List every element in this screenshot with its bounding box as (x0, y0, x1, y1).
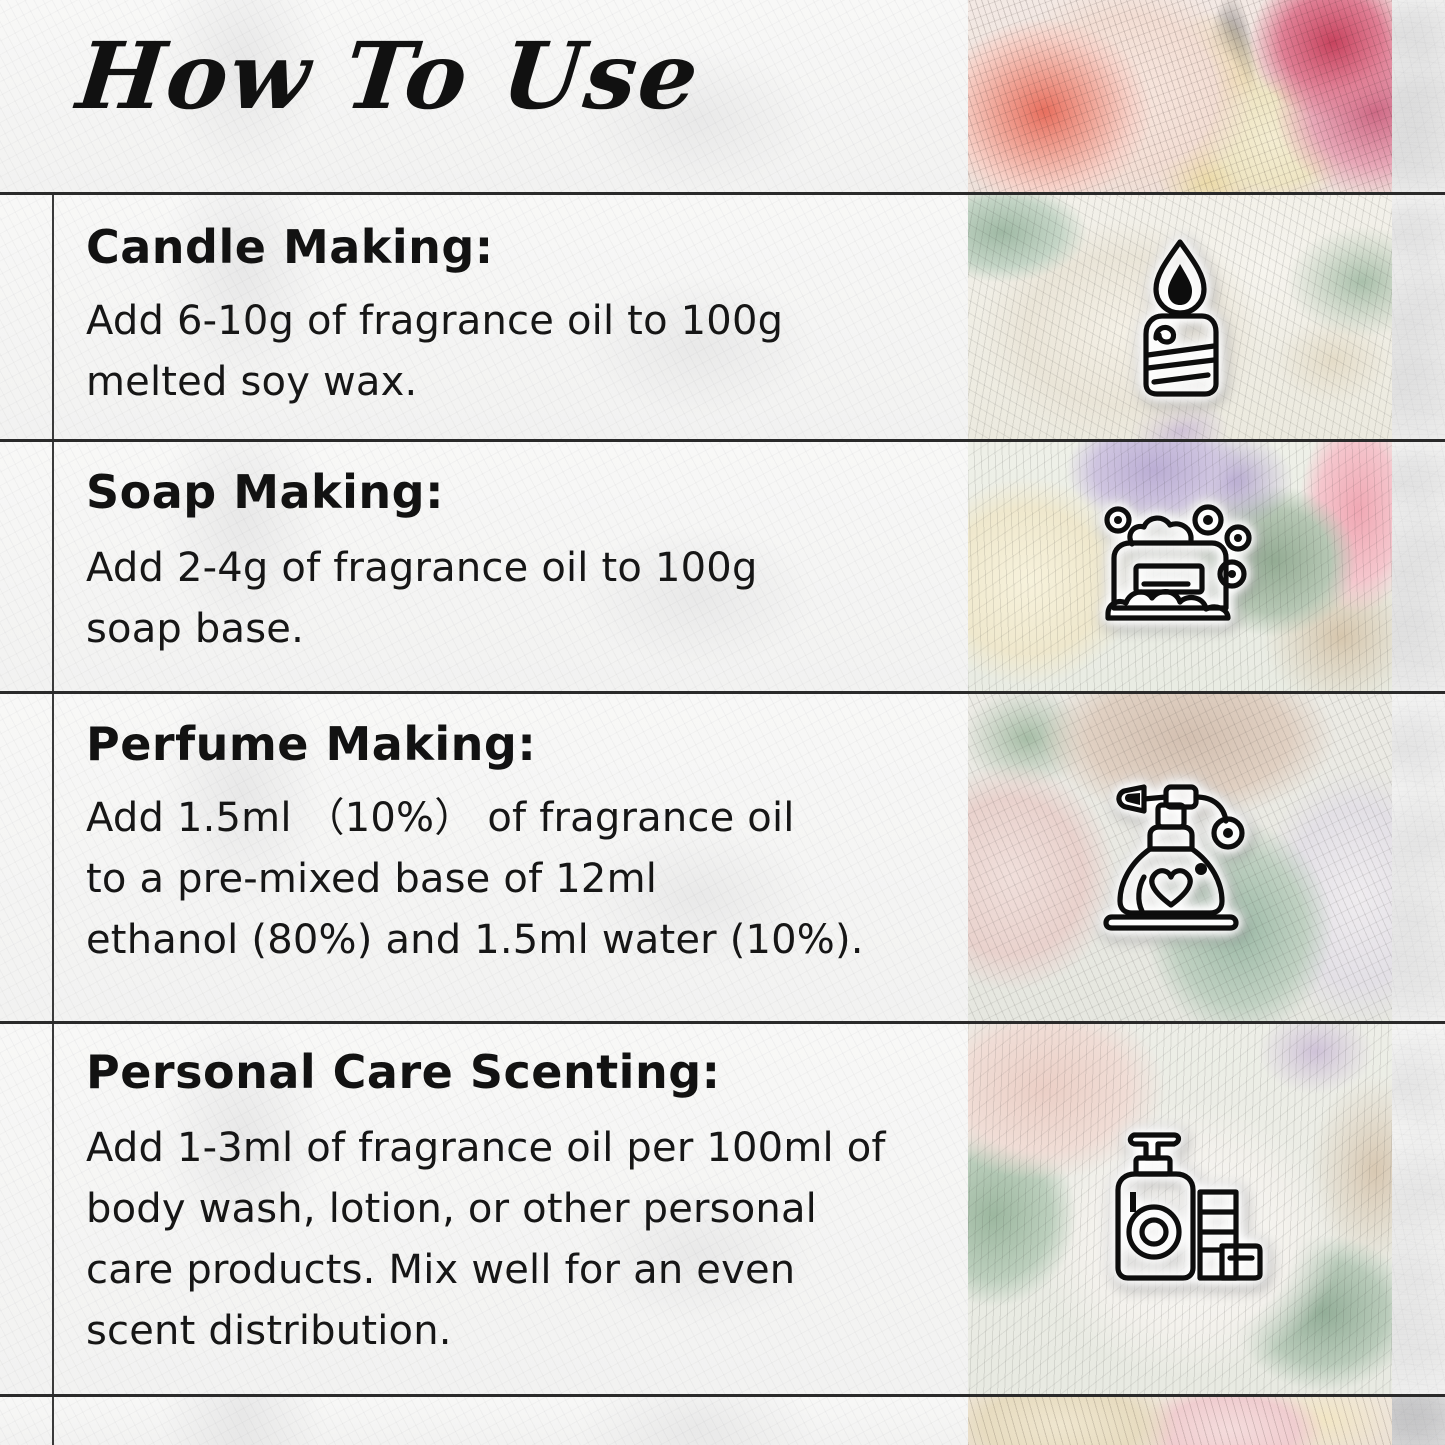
section-heading-soap: Soap Making: (86, 468, 938, 516)
section-image-perfume (968, 692, 1392, 1022)
section-image-care (968, 1022, 1392, 1395)
left-margin-rule (52, 193, 54, 440)
section-body-candle: Add 6-10g of fragrance oil to 100g melte… (86, 291, 938, 413)
section-soap-making: Soap Making: Add 2-4g of fragrance oil t… (0, 440, 968, 692)
perfume-bottle-icon (968, 692, 1392, 1022)
divider-care-next (0, 1394, 1445, 1397)
section-body-line: body wash, lotion, or other personal (86, 1179, 938, 1240)
section-body-line: Add 6-10g of fragrance oil to 100g (86, 291, 938, 352)
next-section-texture (0, 1395, 968, 1445)
section-candle-making: Candle Making: Add 6-10g of fragrance oi… (0, 193, 968, 440)
left-margin-rule (52, 1395, 54, 1445)
right-margin-strip-perfume (1392, 692, 1445, 1022)
how-to-use-infographic: How To Use Candle Making: Add 6-10g of f… (0, 0, 1445, 1445)
soap-bar-icon (968, 440, 1392, 692)
section-body-soap: Add 2-4g of fragrance oil to 100g soap b… (86, 538, 938, 660)
divider-header-candle (0, 192, 1445, 195)
section-image-soap (968, 440, 1392, 692)
book-and-roses-illustration (968, 1395, 1392, 1445)
left-margin-rule (52, 440, 54, 692)
section-body-line: Add 2-4g of fragrance oil to 100g (86, 538, 938, 599)
page-title: How To Use (72, 22, 705, 130)
right-margin-strip-care (1392, 1022, 1445, 1395)
left-margin-rule (52, 1022, 54, 1395)
right-margin-strip-soap (1392, 440, 1445, 692)
divider-perfume-care (0, 1021, 1445, 1024)
section-body-line: soap base. (86, 599, 938, 660)
section-heading-candle: Candle Making: (86, 223, 938, 271)
roses-illustration (968, 0, 1392, 193)
section-personal-care-scenting: Personal Care Scenting: Add 1-3ml of fra… (0, 1022, 968, 1395)
next-section-image (968, 1395, 1392, 1445)
section-body-line: ethanol (80%) and 1.5ml water (10%). (86, 910, 938, 971)
section-heading-care: Personal Care Scenting: (86, 1048, 938, 1096)
right-margin-strip-candle (1392, 193, 1445, 440)
divider-candle-soap (0, 439, 1445, 442)
section-body-perfume: Add 1.5ml （10%） of fragrance oil to a pr… (86, 788, 938, 970)
section-body-line: Add 1-3ml of fragrance oil per 100ml of (86, 1118, 938, 1179)
lotion-bottle-icon (968, 1022, 1392, 1395)
right-margin-strip-bottom (1392, 1395, 1445, 1445)
section-body-line: care products. Mix well for an even (86, 1240, 938, 1301)
right-margin-strip-header (1392, 0, 1445, 193)
section-body-line: scent distribution. (86, 1301, 938, 1362)
section-heading-perfume: Perfume Making: (86, 720, 938, 768)
next-section-band (0, 1395, 968, 1445)
section-body-line: melted soy wax. (86, 352, 938, 413)
section-body-care: Add 1-3ml of fragrance oil per 100ml of … (86, 1118, 938, 1361)
header-image-roses (968, 0, 1392, 193)
left-margin-rule (52, 692, 54, 1022)
section-image-candle (968, 193, 1392, 440)
section-body-line: Add 1.5ml （10%） of fragrance oil (86, 788, 938, 849)
section-body-line: to a pre-mixed base of 12ml (86, 849, 938, 910)
section-perfume-making: Perfume Making: Add 1.5ml （10%） of fragr… (0, 692, 968, 1022)
header-band: How To Use (0, 0, 968, 193)
candle-icon (968, 193, 1392, 440)
divider-soap-perfume (0, 691, 1445, 694)
